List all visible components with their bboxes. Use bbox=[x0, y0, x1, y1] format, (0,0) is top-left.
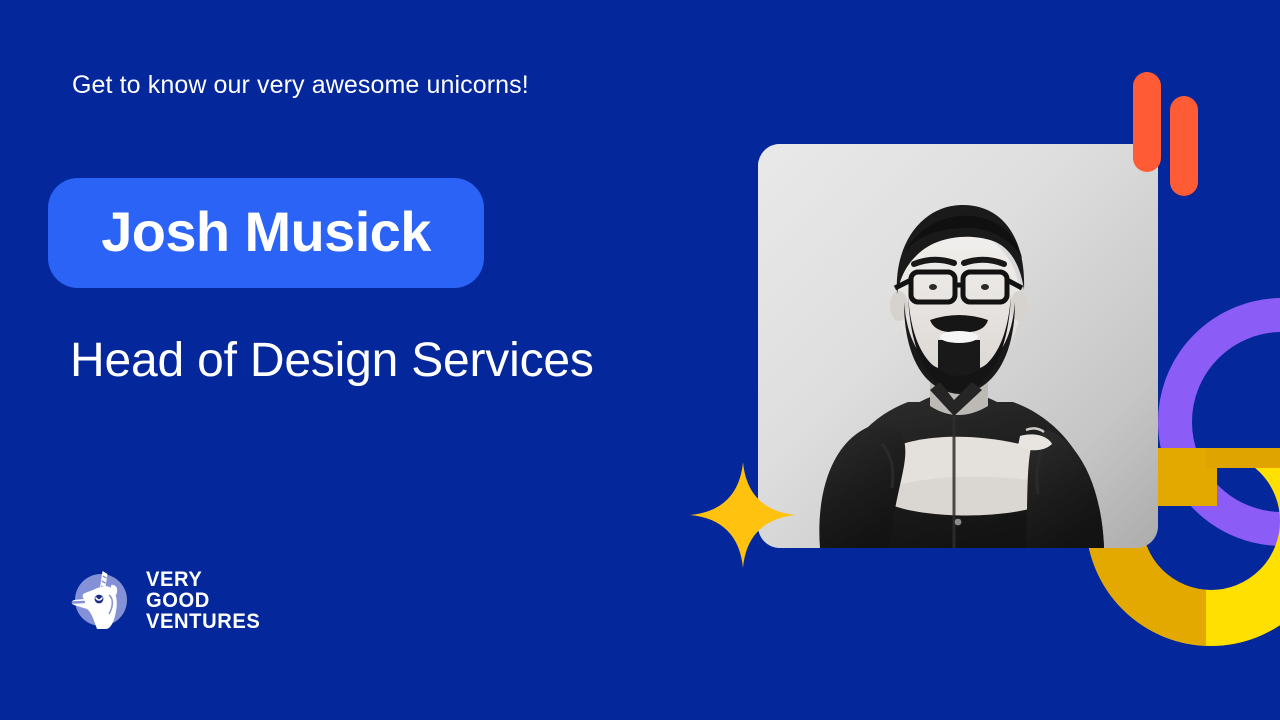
slide-canvas: Get to know our very awesome unicorns! J… bbox=[0, 0, 1280, 720]
orange-bar-right bbox=[1170, 96, 1198, 196]
orange-bar-left bbox=[1133, 72, 1161, 172]
logo-line-3: VENTURES bbox=[146, 611, 260, 632]
vgv-logo: VERY GOOD VENTURES bbox=[66, 567, 265, 633]
yellow-arc-purple-overlap bbox=[1206, 448, 1280, 468]
sparkle-star-icon bbox=[688, 460, 798, 570]
name-badge: Josh Musick bbox=[48, 178, 484, 288]
person-role: Head of Design Services bbox=[70, 333, 594, 388]
vgv-wordmark: VERY GOOD VENTURES bbox=[146, 569, 260, 632]
logo-line-2: GOOD bbox=[146, 590, 260, 611]
logo-line-1: VERY bbox=[146, 569, 260, 590]
unicorn-head-icon bbox=[66, 567, 132, 633]
portrait-photo bbox=[758, 144, 1158, 548]
tagline: Get to know our very awesome unicorns! bbox=[72, 71, 529, 100]
person-name: Josh Musick bbox=[101, 199, 431, 264]
